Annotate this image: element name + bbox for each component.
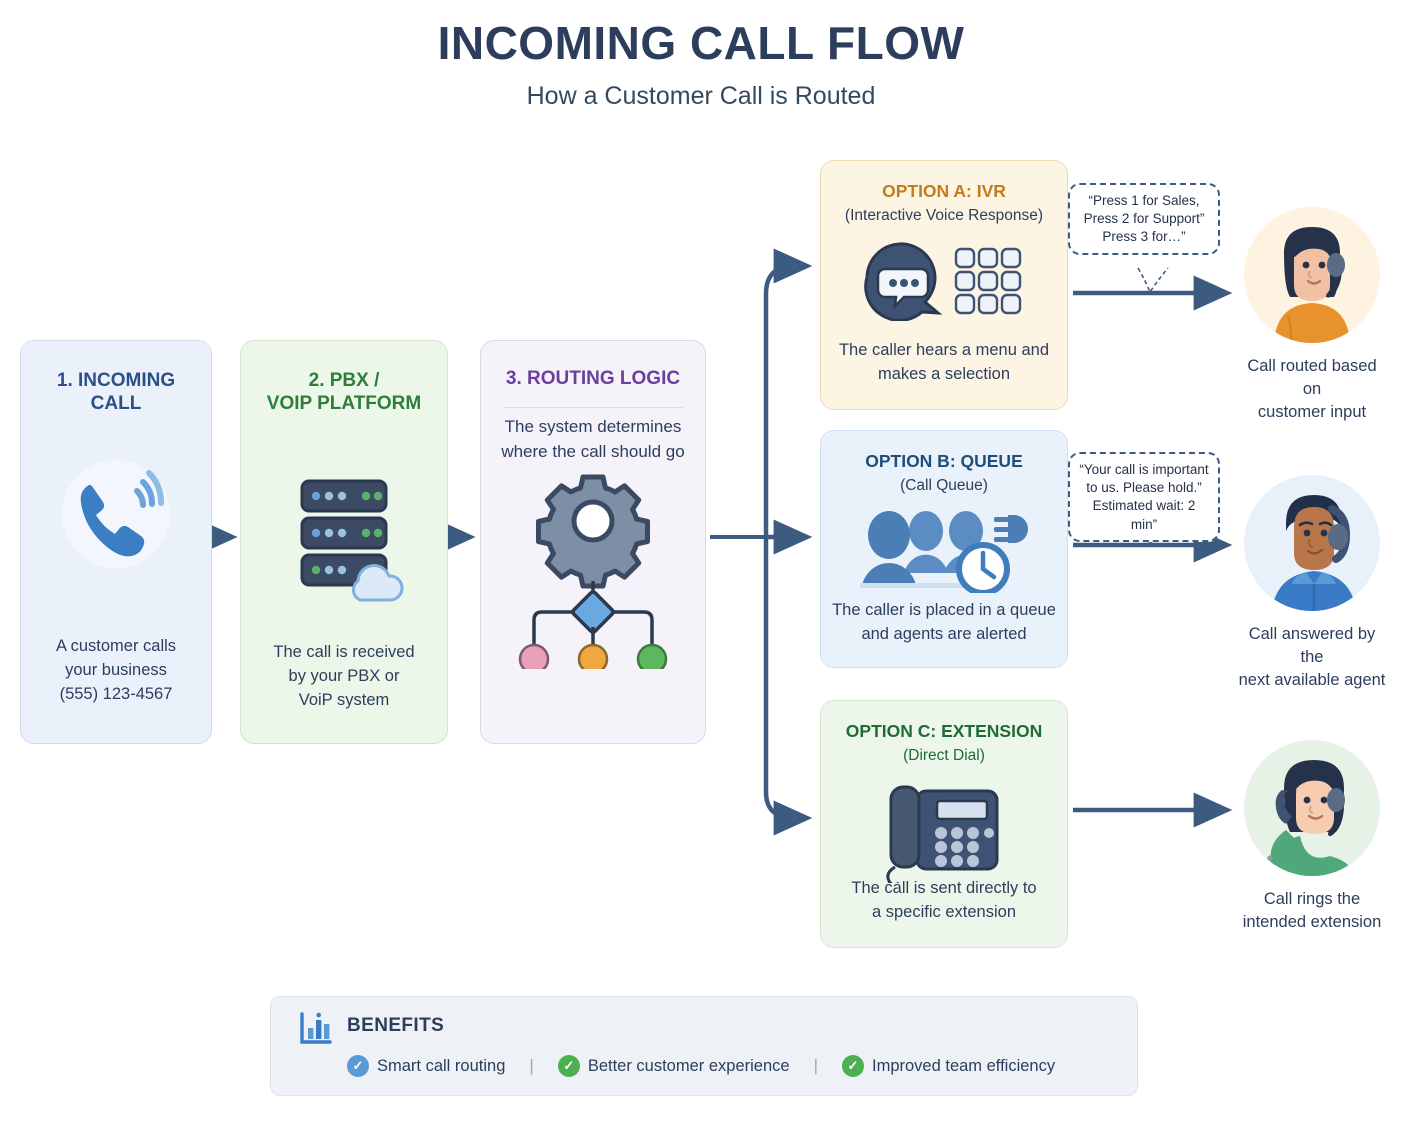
- option-heading: OPTION B: QUEUE: [821, 451, 1067, 472]
- agent-man-blue-headset-avatar: [1244, 475, 1380, 611]
- divider: [503, 407, 683, 408]
- outcome-extension: Call rings the intended extension: [1237, 740, 1387, 934]
- outcome-caption: Call answered by the next available agen…: [1237, 623, 1387, 692]
- option-description: The caller hears a menu and makes a sele…: [831, 339, 1057, 387]
- server-cloud-icon: [241, 463, 447, 608]
- option-heading: OPTION A: IVR: [821, 181, 1067, 202]
- step-description: The system determines where the call sho…: [491, 415, 695, 464]
- option-heading: OPTION C: EXTENSION: [821, 721, 1067, 742]
- step-heading: 3. ROUTING LOGIC: [481, 367, 705, 390]
- benefit-item: ✓ Smart call routing: [347, 1055, 505, 1077]
- option-subheading: (Direct Dial): [821, 746, 1067, 765]
- queue-people-clock-icon: [821, 507, 1067, 598]
- step-card-pbx-voip[interactable]: 2. PBX / VOIP PLATFORM: [240, 340, 448, 744]
- outcome-queue: Call answered by the next available agen…: [1237, 475, 1387, 692]
- page-title: INCOMING CALL FLOW: [0, 16, 1402, 70]
- gear-branch-icon: [481, 469, 705, 674]
- queue-script-bubble: “Your call is important to us. Please ho…: [1068, 452, 1220, 542]
- option-card-queue[interactable]: OPTION B: QUEUE (Call Queue): [820, 430, 1068, 668]
- outcome-caption: Call routed based on customer input: [1237, 355, 1387, 424]
- step-card-routing-logic[interactable]: 3. ROUTING LOGIC The system determines w…: [480, 340, 706, 744]
- option-description: The call is sent directly to a specific …: [831, 877, 1057, 925]
- phone-ringing-icon: [21, 449, 211, 584]
- step-heading: 2. PBX / VOIP PLATFORM: [241, 369, 447, 415]
- page-subtitle: How a Customer Call is Routed: [0, 82, 1402, 111]
- separator: |: [529, 1056, 533, 1076]
- option-subheading: (Interactive Voice Response): [821, 206, 1067, 225]
- woman-green-on-phone-avatar: [1244, 740, 1380, 876]
- step-heading: 1. INCOMING CALL: [21, 369, 211, 415]
- desk-phone-icon: [821, 777, 1067, 888]
- step-description: A customer calls your business (555) 123…: [33, 635, 199, 707]
- benefit-label: Better customer experience: [588, 1057, 790, 1076]
- benefit-label: Smart call routing: [377, 1057, 505, 1076]
- step-card-incoming-call[interactable]: 1. INCOMING CALL A customer calls your b…: [20, 340, 212, 744]
- benefit-item: ✓ Improved team efficiency: [842, 1055, 1055, 1077]
- option-card-ivr[interactable]: OPTION A: IVR (Interactive Voice Respons…: [820, 160, 1068, 410]
- benefits-list: ✓ Smart call routing | ✓ Better customer…: [347, 1055, 1117, 1077]
- option-description: The caller is placed in a queue and agen…: [829, 599, 1059, 647]
- infographic-canvas: INCOMING CALL FLOW How a Customer Call i…: [0, 0, 1402, 1121]
- bar-chart-icon: [299, 1011, 333, 1050]
- benefits-title: BENEFITS: [347, 1015, 444, 1037]
- benefits-panel: BENEFITS ✓ Smart call routing | ✓ Better…: [270, 996, 1138, 1096]
- check-icon: ✓: [347, 1055, 369, 1077]
- option-subheading: (Call Queue): [821, 476, 1067, 495]
- benefit-item: ✓ Better customer experience: [558, 1055, 790, 1077]
- outcome-ivr: Call routed based on customer input: [1237, 207, 1387, 424]
- check-icon: ✓: [558, 1055, 580, 1077]
- agent-woman-orange-headset-avatar: [1244, 207, 1380, 343]
- check-icon: ✓: [842, 1055, 864, 1077]
- benefit-label: Improved team efficiency: [872, 1057, 1055, 1076]
- ivr-keypad-icon: [821, 239, 1067, 326]
- option-card-extension[interactable]: OPTION C: EXTENSION (Direct Dial) The ca…: [820, 700, 1068, 948]
- step-description: The call is received by your PBX or VoiP…: [253, 641, 435, 713]
- ivr-script-bubble: “Press 1 for Sales, Press 2 for Support”…: [1068, 183, 1220, 255]
- outcome-caption: Call rings the intended extension: [1237, 888, 1387, 934]
- separator: |: [814, 1056, 818, 1076]
